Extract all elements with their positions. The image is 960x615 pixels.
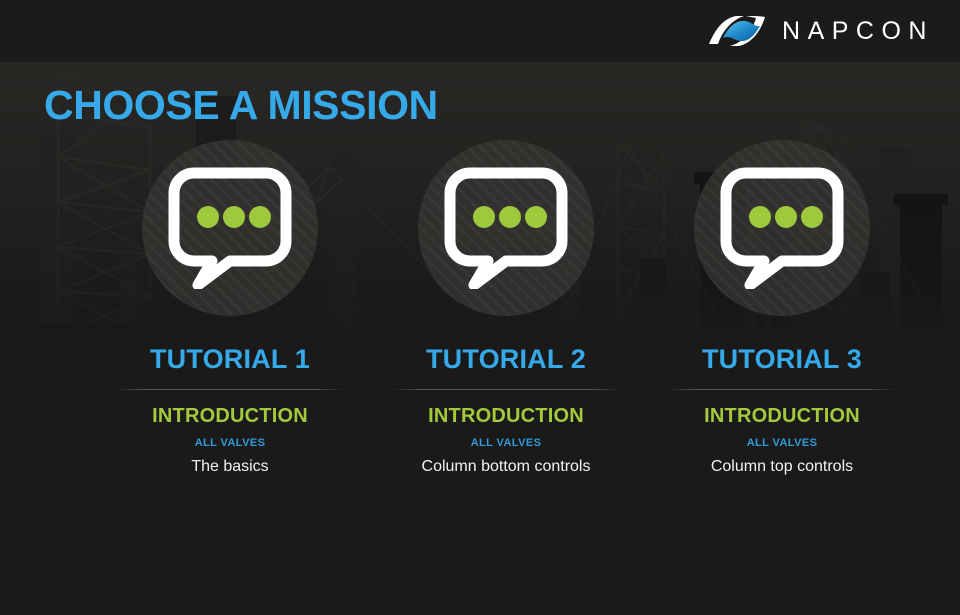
mission-scope: ALL VALVES <box>471 437 542 449</box>
panel-seam <box>0 582 960 583</box>
brand-name: NAPCON <box>782 13 934 49</box>
mission-icon-circle[interactable] <box>142 140 318 316</box>
mission-category: INTRODUCTION <box>152 405 308 428</box>
mission-scope: ALL VALVES <box>195 437 266 449</box>
mission-title: TUTORIAL 1 <box>150 344 310 375</box>
mission-description: Column top controls <box>711 458 853 476</box>
mission-select-screen: NAPCON CHOOSE A MISSION TUTORIAL 1 INTRO… <box>0 0 960 615</box>
brand-logo[interactable]: NAPCON <box>706 13 934 49</box>
mission-title: TUTORIAL 3 <box>702 344 862 375</box>
speech-bubble-icon <box>444 167 568 289</box>
speech-bubble-icon <box>168 167 292 289</box>
mission-divider <box>118 389 342 390</box>
panel-seam <box>0 512 960 513</box>
mission-description: The basics <box>191 458 268 476</box>
header-bar: NAPCON <box>0 0 960 62</box>
napcon-wave-logo-icon <box>706 13 768 49</box>
mission-divider <box>670 389 894 390</box>
mission-scope: ALL VALVES <box>747 437 818 449</box>
mission-icon-circle[interactable] <box>694 140 870 316</box>
page-title: CHOOSE A MISSION <box>44 82 438 129</box>
mission-title: TUTORIAL 2 <box>426 344 586 375</box>
mission-card-tutorial-2[interactable]: TUTORIAL 2 INTRODUCTION ALL VALVES Colum… <box>368 140 644 476</box>
mission-description: Column bottom controls <box>422 458 591 476</box>
mission-category: INTRODUCTION <box>428 405 584 428</box>
mission-list: TUTORIAL 1 INTRODUCTION ALL VALVES The b… <box>0 140 960 476</box>
speech-bubble-icon <box>720 167 844 289</box>
mission-card-tutorial-3[interactable]: TUTORIAL 3 INTRODUCTION ALL VALVES Colum… <box>644 140 920 476</box>
mission-category: INTRODUCTION <box>704 405 860 428</box>
mission-divider <box>394 389 618 390</box>
mission-icon-circle[interactable] <box>418 140 594 316</box>
mission-card-tutorial-1[interactable]: TUTORIAL 1 INTRODUCTION ALL VALVES The b… <box>92 140 368 476</box>
